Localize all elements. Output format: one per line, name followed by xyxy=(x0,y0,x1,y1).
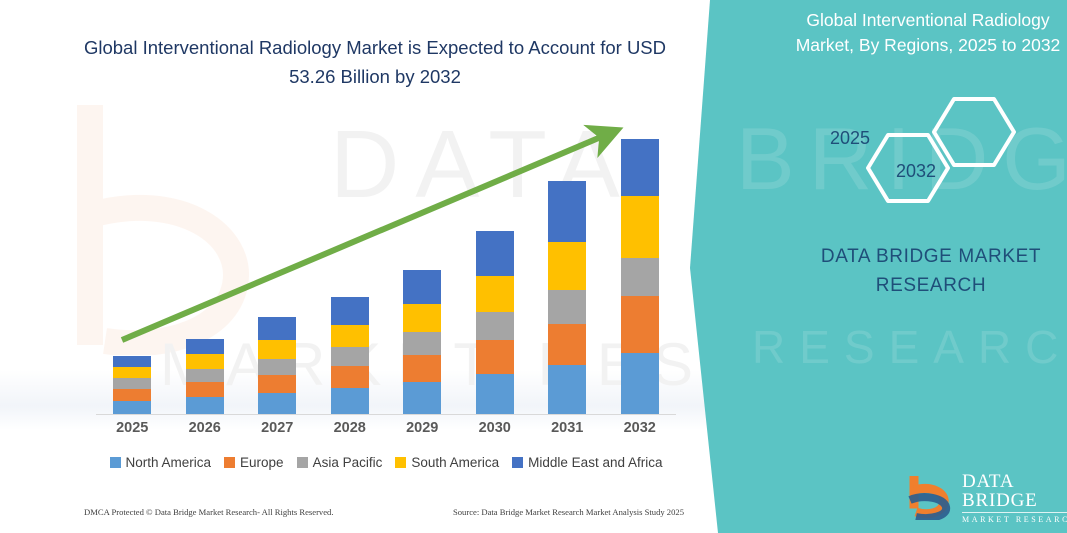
bar-segment xyxy=(548,242,586,290)
bar-segment xyxy=(186,382,224,397)
legend-swatch xyxy=(110,457,121,468)
bar-stack xyxy=(258,317,296,414)
side-panel: BRIDGE RESEARCH Global Interventional Ra… xyxy=(686,0,1067,533)
hexagon-2025-shape xyxy=(934,99,1014,165)
legend-item[interactable]: South America xyxy=(395,455,499,470)
x-axis-labels: 20252026202720282029203020312032 xyxy=(96,420,676,436)
bar-segment xyxy=(113,378,151,389)
bar-column xyxy=(386,123,459,414)
legend-label: Middle East and Africa xyxy=(528,455,662,470)
bar-stack xyxy=(476,231,514,414)
panel-title: Global Interventional Radiology Market, … xyxy=(778,8,1067,59)
chart-plot-area xyxy=(96,123,676,415)
bar-segment xyxy=(331,388,369,414)
bar-segment xyxy=(548,290,586,324)
infographic-root: DATA MARKET RESEARCH Global Intervention… xyxy=(0,0,1067,533)
footer-source: Source: Data Bridge Market Research Mark… xyxy=(453,507,684,517)
bar-segment xyxy=(258,317,296,340)
footer: DMCA Protected © Data Bridge Market Rese… xyxy=(84,507,684,517)
bar-column xyxy=(169,123,242,414)
bar-column xyxy=(96,123,169,414)
bar-segment xyxy=(331,325,369,347)
bar-segment xyxy=(476,312,514,340)
panel-watermark-research: RESEARCH xyxy=(752,320,1067,374)
logo-main-text: DATA BRIDGE xyxy=(962,472,1067,510)
bar-stack xyxy=(331,297,369,414)
bar-segment xyxy=(403,355,441,382)
bar-segment xyxy=(258,375,296,393)
bar-segment xyxy=(113,389,151,401)
bar-segment xyxy=(186,369,224,382)
bar-segment xyxy=(548,365,586,414)
bar-column xyxy=(241,123,314,414)
bar-segment xyxy=(331,297,369,325)
bar-column xyxy=(531,123,604,414)
bar-segment xyxy=(476,340,514,374)
bar-segment xyxy=(476,276,514,312)
bar-segment xyxy=(621,139,659,196)
bar-stack xyxy=(548,181,586,414)
x-axis-label: 2028 xyxy=(314,420,387,436)
logo-divider xyxy=(962,512,1067,513)
bar-column xyxy=(459,123,532,414)
bar-segment xyxy=(113,356,151,367)
bar-segment xyxy=(403,270,441,304)
bar-segment xyxy=(186,397,224,414)
x-axis-label: 2030 xyxy=(459,420,532,436)
x-axis-label: 2027 xyxy=(241,420,314,436)
legend-item[interactable]: Europe xyxy=(224,455,284,470)
bar-segment xyxy=(621,353,659,414)
bar-segment xyxy=(403,332,441,355)
bar-segment xyxy=(113,401,151,414)
hexagon-label-2025: 2025 xyxy=(830,128,870,149)
x-axis-line xyxy=(96,414,676,415)
bar-segment xyxy=(403,382,441,414)
legend-swatch xyxy=(224,457,235,468)
x-axis-label: 2025 xyxy=(96,420,169,436)
legend-item[interactable]: North America xyxy=(110,455,212,470)
x-axis-label: 2032 xyxy=(604,420,677,436)
legend-item[interactable]: Middle East and Africa xyxy=(512,455,662,470)
page-title: Global Interventional Radiology Market i… xyxy=(60,34,690,91)
bar-segment xyxy=(331,347,369,366)
bar-segment xyxy=(548,181,586,242)
logo-wordmark: DATA BRIDGE MARKET RESEARCH xyxy=(962,472,1067,524)
bar-segment xyxy=(621,258,659,296)
bar-segment xyxy=(621,296,659,353)
bar-segment xyxy=(186,354,224,369)
legend-label: North America xyxy=(126,455,212,470)
bar-segment xyxy=(403,304,441,332)
legend-label: Asia Pacific xyxy=(313,455,383,470)
bar-segment xyxy=(476,231,514,276)
bar-segment xyxy=(258,340,296,359)
bar-segment xyxy=(113,367,151,378)
logo-sub-text: MARKET RESEARCH xyxy=(962,516,1067,524)
bar-segment xyxy=(621,196,659,258)
footer-copyright: DMCA Protected © Data Bridge Market Rese… xyxy=(84,507,334,517)
panel-content: BRIDGE RESEARCH Global Interventional Ra… xyxy=(726,0,1067,533)
legend-item[interactable]: Asia Pacific xyxy=(297,455,383,470)
databridge-logo: DATA BRIDGE MARKET RESEARCH xyxy=(906,474,1067,522)
bar-column xyxy=(604,123,677,414)
bar-stack xyxy=(403,270,441,414)
bar-segment xyxy=(186,339,224,354)
x-axis-label: 2029 xyxy=(386,420,459,436)
legend-swatch xyxy=(297,457,308,468)
x-axis-label: 2026 xyxy=(169,420,242,436)
hexagon-label-2032: 2032 xyxy=(896,161,936,182)
legend-label: South America xyxy=(411,455,499,470)
hexagon-badges-icon xyxy=(846,95,1046,210)
x-axis-label: 2031 xyxy=(531,420,604,436)
chart-bars xyxy=(96,123,676,414)
legend-label: Europe xyxy=(240,455,284,470)
bar-segment xyxy=(331,366,369,388)
bar-stack xyxy=(621,139,659,414)
panel-brand-name: DATA BRIDGE MARKET RESEARCH xyxy=(786,243,1067,300)
databridge-b-logo-icon xyxy=(906,476,954,520)
bar-stack xyxy=(186,339,224,414)
bar-column xyxy=(314,123,387,414)
bar-segment xyxy=(258,393,296,414)
chart-legend: North AmericaEuropeAsia PacificSouth Ame… xyxy=(96,455,676,470)
stacked-bar-chart: 20252026202720282029203020312032 xyxy=(96,120,676,415)
bar-stack xyxy=(113,356,151,414)
legend-swatch xyxy=(512,457,523,468)
bar-segment xyxy=(548,324,586,365)
bar-segment xyxy=(476,374,514,414)
legend-swatch xyxy=(395,457,406,468)
bar-segment xyxy=(258,359,296,375)
